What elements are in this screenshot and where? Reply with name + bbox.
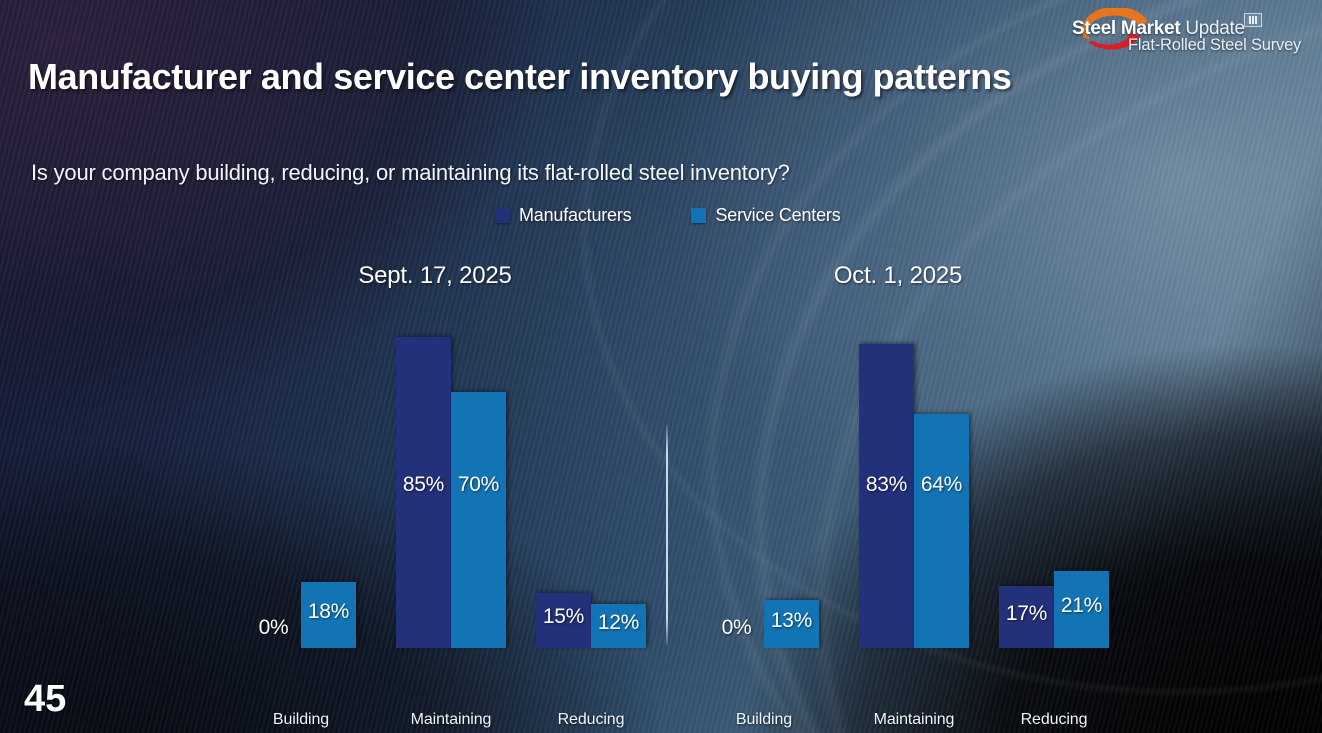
survey-question: Is your company building, reducing, or m…	[31, 160, 790, 186]
bar-slot: 15%	[536, 318, 591, 648]
chart-sept-17-2025: Sept. 17, 2025 0%18%BuildingInventory85%…	[205, 262, 665, 702]
bar-service-centers: 21%	[1054, 571, 1109, 648]
bar-value-label: 83%	[859, 473, 914, 497]
smu-logo: Steel Market Update Flat-Rolled Steel Su…	[1064, 6, 1314, 54]
page-number: 45	[24, 678, 66, 721]
bar-service-centers: 13%	[764, 600, 819, 648]
chart-title: Oct. 1, 2025	[668, 262, 1128, 290]
bar-group: 15%12%	[535, 318, 647, 648]
slide-canvas: Steel Market Update Flat-Rolled Steel Su…	[0, 0, 1322, 733]
legend-swatch-icon	[495, 208, 510, 223]
category-label-line: Maintaining	[858, 710, 970, 730]
bar-value-label: 18%	[301, 600, 356, 624]
bar-manufacturers: 15%	[536, 593, 591, 648]
category-label-line: Maintaining	[395, 710, 507, 730]
page-title: Manufacturer and service center inventor…	[28, 56, 1011, 98]
bar-value-label: 17%	[999, 602, 1054, 626]
legend-label: Manufacturers	[519, 205, 631, 226]
category-label: ReducingInventory	[998, 710, 1110, 733]
bar-service-centers: 12%	[591, 604, 646, 648]
bar-manufacturers: 17%	[999, 586, 1054, 648]
category-label: MaintainingInventory	[858, 710, 970, 733]
category-label: BuildingInventory	[708, 710, 820, 733]
category-label-line: Reducing	[535, 710, 647, 730]
bar-service-centers: 18%	[301, 582, 356, 648]
bar-slot: 13%	[764, 318, 819, 648]
bar-slot: 0%	[246, 318, 301, 648]
chart-plot-area: 0%18%BuildingInventory85%70%MaintainingI…	[205, 318, 665, 648]
smu-mark-icon	[1244, 13, 1262, 27]
category-label: MaintainingInventory	[395, 710, 507, 733]
bar-value-label: 12%	[591, 611, 646, 635]
category-label-line: Building	[708, 710, 820, 730]
chart-category-group: 0%18%BuildingInventory	[245, 318, 357, 648]
legend-swatch-icon	[691, 208, 706, 223]
legend-item-manufacturers: Manufacturers	[495, 205, 631, 226]
bar-value-label: 21%	[1054, 594, 1109, 618]
bar-value-label: 85%	[396, 473, 451, 497]
bar-slot: 17%	[999, 318, 1054, 648]
chart-oct-1-2025: Oct. 1, 2025 0%13%BuildingInventory83%64…	[668, 262, 1128, 702]
chart-category-group: 85%70%MaintainingInventory	[395, 318, 507, 648]
category-label-line: Reducing	[998, 710, 1110, 730]
bar-service-centers: 70%	[451, 392, 506, 648]
legend-item-service-centers: Service Centers	[691, 205, 840, 226]
bar-group: 85%70%	[395, 318, 507, 648]
bar-slot: 70%	[451, 318, 506, 648]
bar-manufacturers: 83%	[859, 344, 914, 648]
chart-plot-area: 0%13%BuildingInventory83%64%MaintainingI…	[668, 318, 1128, 648]
chart-category-group: 15%12%ReducingInventory	[535, 318, 647, 648]
legend-label: Service Centers	[715, 205, 840, 226]
bar-slot: 83%	[859, 318, 914, 648]
chart-legend: Manufacturers Service Centers	[495, 205, 841, 226]
category-label: BuildingInventory	[245, 710, 357, 733]
bar-slot: 18%	[301, 318, 356, 648]
bar-slot: 21%	[1054, 318, 1109, 648]
chart-title: Sept. 17, 2025	[205, 262, 665, 290]
bar-value-label: 15%	[536, 605, 591, 629]
bar-value-label: 64%	[914, 473, 969, 497]
chart-category-group: 17%21%ReducingInventory	[998, 318, 1110, 648]
bar-group: 17%21%	[998, 318, 1110, 648]
bar-slot: 64%	[914, 318, 969, 648]
logo-subtitle: Flat-Rolled Steel Survey	[1128, 36, 1301, 55]
category-label: ReducingInventory	[535, 710, 647, 733]
bar-manufacturers: 85%	[396, 337, 451, 648]
bar-value-label: 13%	[764, 609, 819, 633]
bar-group: 83%64%	[858, 318, 970, 648]
chart-category-group: 83%64%MaintainingInventory	[858, 318, 970, 648]
bar-slot: 0%	[709, 318, 764, 648]
bar-slot: 85%	[396, 318, 451, 648]
bar-value-label-zero: 0%	[246, 616, 301, 640]
bar-value-label-zero: 0%	[709, 616, 764, 640]
bar-slot: 12%	[591, 318, 646, 648]
bar-service-centers: 64%	[914, 414, 969, 648]
bar-group: 0%18%	[245, 318, 357, 648]
bar-value-label: 70%	[451, 473, 506, 497]
chart-category-group: 0%13%BuildingInventory	[708, 318, 820, 648]
bar-group: 0%13%	[708, 318, 820, 648]
category-label-line: Building	[245, 710, 357, 730]
